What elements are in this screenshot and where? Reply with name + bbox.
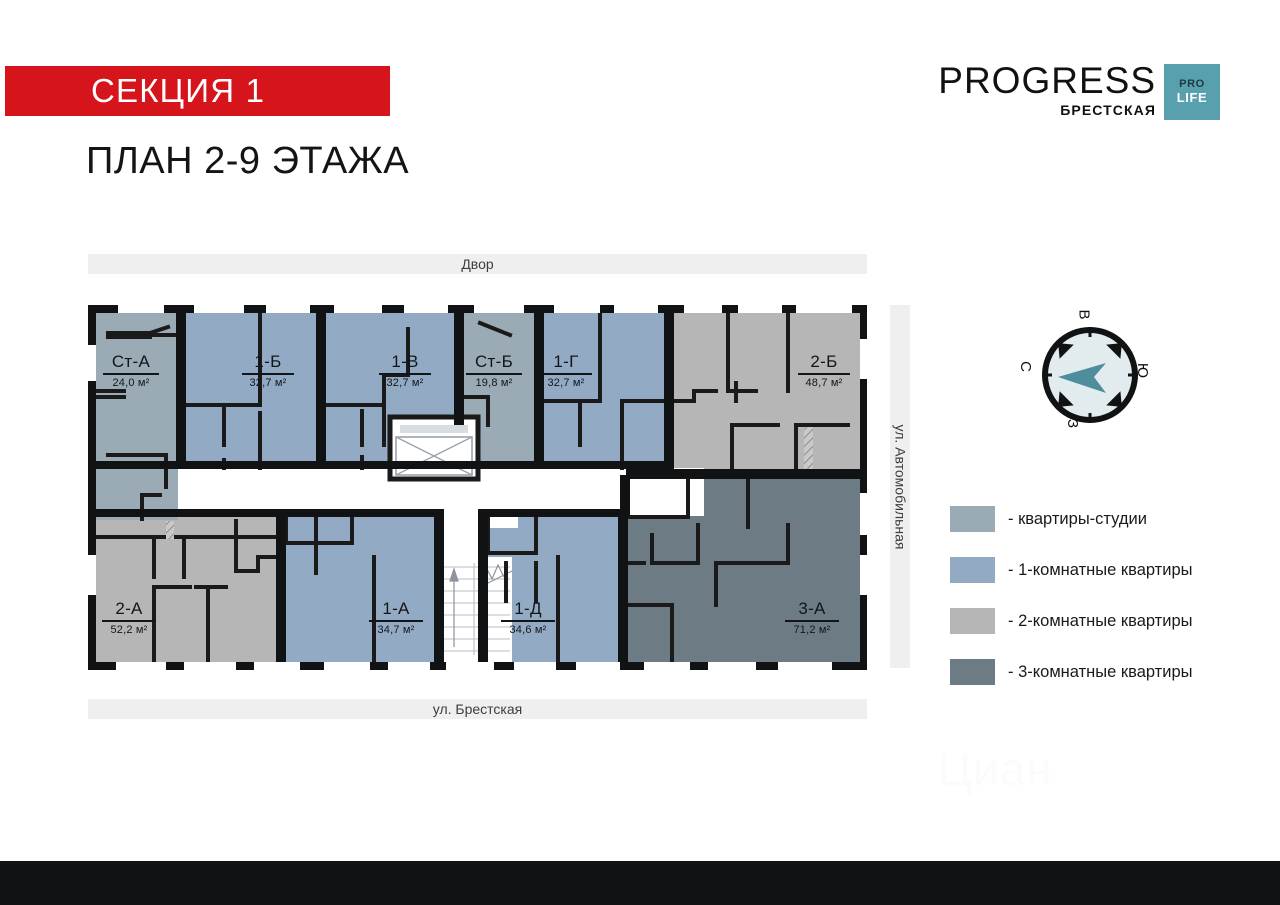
apartment-label: 3-А71,2 м² [785,600,839,636]
apartment-label: 1-В32,7 м² [379,353,431,389]
apartment-area: 32,7 м² [379,377,431,389]
apartment-label-divider [466,373,522,375]
logo-wordmark: PROGRESS БРЕСТСКАЯ [938,62,1164,118]
apartment-name: 1-Б [242,353,294,371]
compass-label-east: В [1076,309,1093,319]
compass-icon [1030,315,1150,435]
surrounding-label-avtomobilnaya: ул. Автомобильная [890,305,910,668]
apartment-name: 1-А [369,600,423,618]
apartment-area: 48,7 м² [798,377,850,389]
apartment-label-divider [103,373,159,375]
apartment-label-divider [785,620,839,622]
footer-bar [0,861,1280,905]
brestskaya-text: ул. Брестская [433,701,522,717]
watermark: Циан [938,742,1053,796]
badge-line-life: LIFE [1177,91,1208,106]
legend-swatch [950,506,995,532]
logo-sub-text: БРЕСТСКАЯ [1060,102,1156,118]
apartment-area: 32,7 м² [242,377,294,389]
apartment-name: 2-А [102,600,156,618]
apartment-label-divider [369,620,423,622]
legend-label: - 1-комнатные квартиры [1008,561,1193,580]
apartment-name: Ст-А [103,353,159,371]
apartment-label-divider [798,373,850,375]
apartment-area: 32,7 м² [540,377,592,389]
legend-row: - 2-комнатные квартиры [950,607,1193,635]
compass-label-south: Ю [1134,363,1151,378]
apartment-name: 2-Б [798,353,850,371]
apartment-name: 1-В [379,353,431,371]
apartment-name: 1-Г [540,353,592,371]
legend-row: - 3-комнатные квартиры [950,658,1193,686]
apartment-label-divider [540,373,592,375]
surrounding-label-brestskaya: ул. Брестская [88,699,867,719]
brand-logo: PROGRESS БРЕСТСКАЯ PRO LIFE [938,62,1220,120]
apartment-area: 19,8 м² [466,377,522,389]
apartment-label: 2-Б48,7 м² [798,353,850,389]
apartment-label: 1-Г32,7 м² [540,353,592,389]
apartment-area: 71,2 м² [785,624,839,636]
apartment-label-divider [102,620,156,622]
apartment-name: Ст-Б [466,353,522,371]
apartment-label-divider [501,620,555,622]
legend-swatch [950,659,995,685]
legend-label: - 2-комнатные квартиры [1008,612,1193,631]
apartment-name: 3-А [785,600,839,618]
compass-label-north: С [1017,361,1034,372]
avtomobilnaya-text: ул. Автомобильная [892,424,908,549]
surrounding-label-courtyard: Двор [88,254,867,274]
legend: - квартиры-студии- 1-комнатные квартиры-… [950,505,1193,709]
courtyard-text: Двор [461,256,493,272]
logo-main-text: PROGRESS [938,62,1156,99]
legend-row: - 1-комнатные квартиры [950,556,1193,584]
apartment-area: 52,2 м² [102,624,156,636]
apartment-area: 34,7 м² [369,624,423,636]
section-badge-label: СЕКЦИЯ 1 [5,72,265,110]
apartment-label: 1-Д34,6 м² [501,600,555,636]
apartment-area: 34,6 м² [501,624,555,636]
pro-life-badge: PRO LIFE [1164,64,1220,120]
apartment-name: 1-Д [501,600,555,618]
section-badge: СЕКЦИЯ 1 [5,66,390,116]
badge-line-pro: PRO [1179,78,1205,91]
apartment-label: Ст-Б19,8 м² [466,353,522,389]
legend-label: - 3-комнатные квартиры [1008,663,1193,682]
apartment-label: 1-А34,7 м² [369,600,423,636]
floor-plan-page: СЕКЦИЯ 1 ПЛАН 2-9 ЭТАЖА PROGRESS БРЕСТСК… [0,0,1280,905]
legend-label: - квартиры-студии [1008,510,1147,529]
legend-swatch [950,557,995,583]
apartment-label: 2-А52,2 м² [102,600,156,636]
legend-row: - квартиры-студии [950,505,1193,533]
compass-label-west: З [1064,419,1081,428]
apartment-label: Ст-А24,0 м² [103,353,159,389]
page-title: ПЛАН 2-9 ЭТАЖА [86,140,409,183]
compass-rose [1030,315,1150,435]
apartment-label-divider [242,373,294,375]
elevator-shaft [390,417,478,479]
apartment-area: 24,0 м² [103,377,159,389]
legend-swatch [950,608,995,634]
apartment-label: 1-Б32,7 м² [242,353,294,389]
apartment-label-divider [379,373,431,375]
